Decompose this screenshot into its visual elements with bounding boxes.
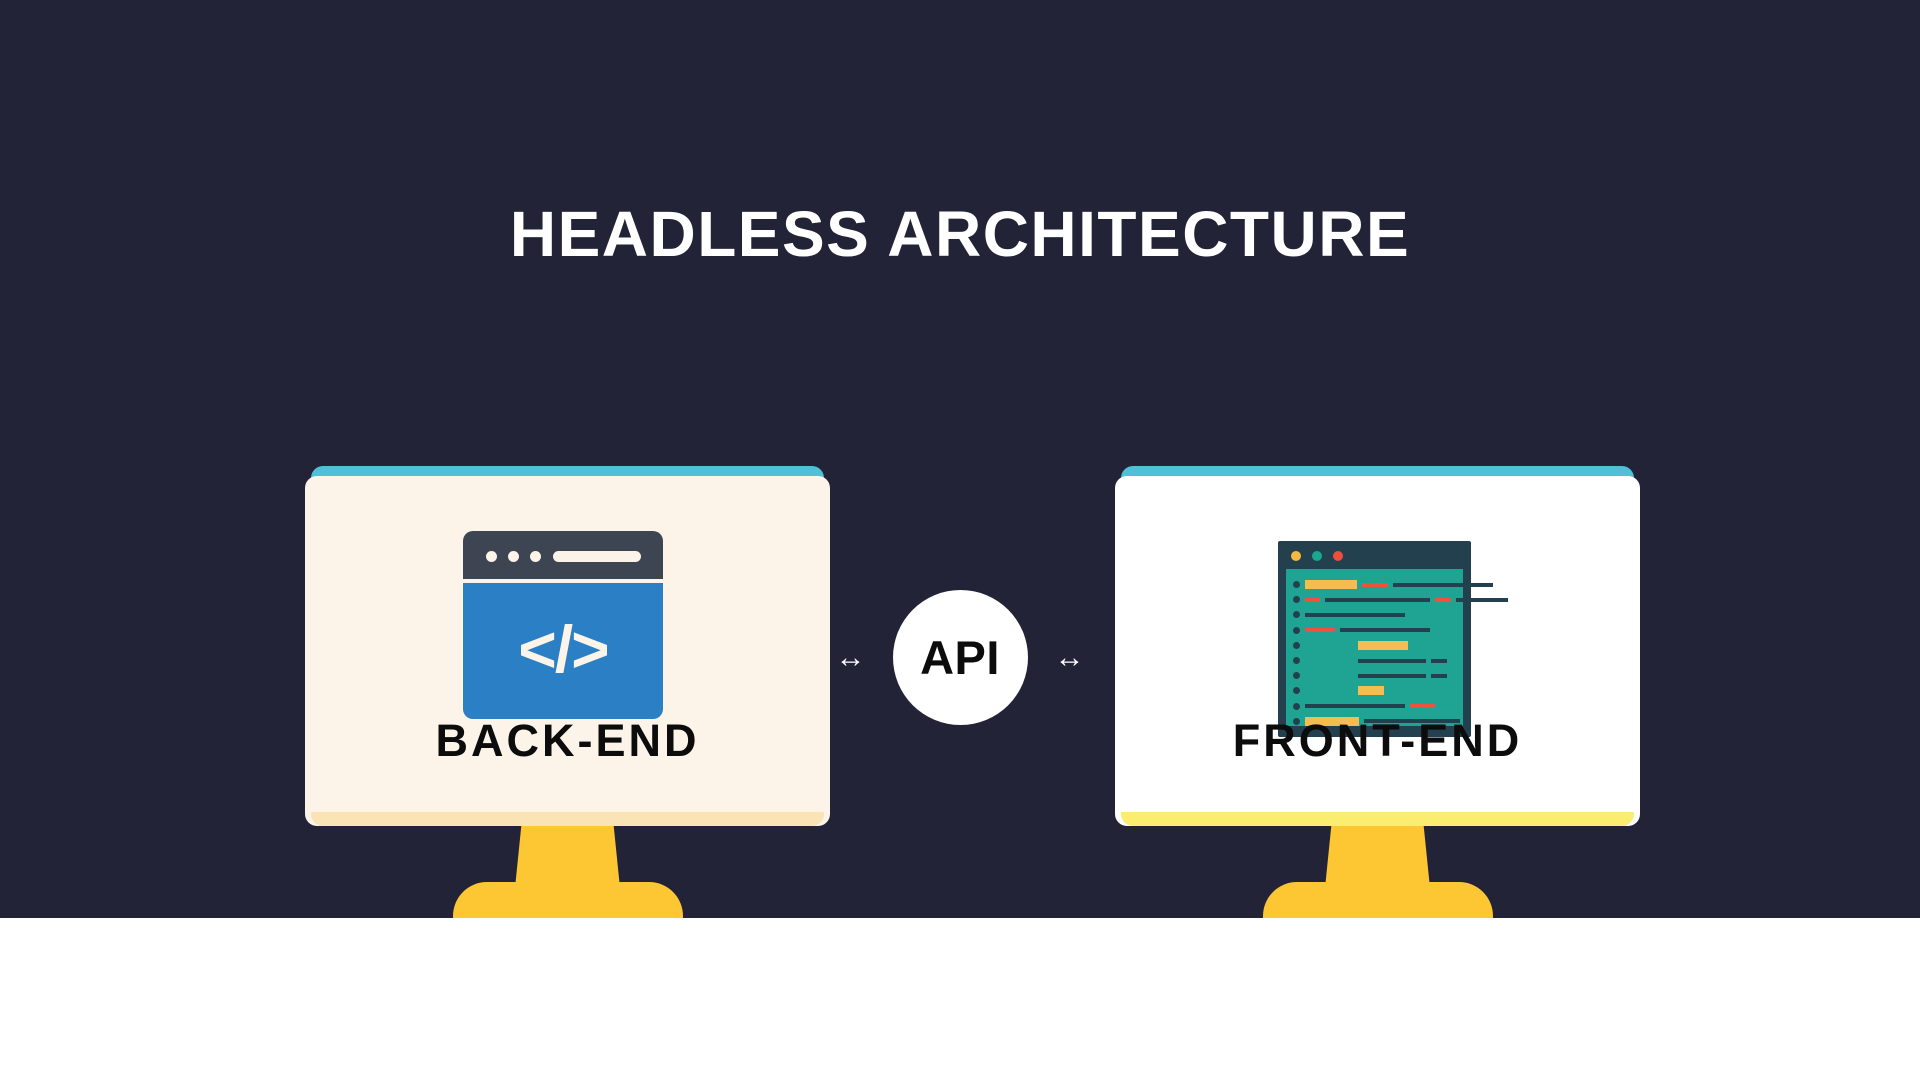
browser-titlebar (463, 531, 663, 579)
monitor-backend[interactable]: </> BACK-END (305, 466, 830, 826)
code-segment-dark (1358, 674, 1426, 678)
code-segment-dark (1358, 659, 1426, 663)
code-line (1286, 683, 1463, 698)
editor-traffic-light-yellow-icon (1291, 551, 1301, 561)
backend-label: BACK-END (305, 718, 830, 763)
code-segment-red (1362, 583, 1388, 587)
backend-stand-base (453, 882, 683, 918)
frontend-screen-bottom-edge (1121, 812, 1634, 826)
code-brackets-icon: </> (518, 616, 607, 682)
code-segment-dark (1305, 704, 1405, 708)
monitor-frontend[interactable]: FRONT-END (1115, 466, 1640, 826)
api-label: API (920, 634, 1000, 681)
editor-traffic-light-red-icon (1333, 551, 1343, 561)
bidirectional-arrow-left-icon: ↔ (828, 643, 873, 673)
code-line (1286, 699, 1463, 714)
frontend-label: FRONT-END (1115, 718, 1640, 763)
frontend-screen-face: FRONT-END (1115, 476, 1640, 826)
code-line (1286, 623, 1463, 638)
backend-stand-neck (515, 826, 620, 888)
frontend-stand-neck (1325, 826, 1430, 888)
code-line (1286, 577, 1463, 592)
editor-traffic-light-teal-icon (1312, 551, 1322, 561)
code-line (1286, 638, 1463, 653)
code-segment-dark (1305, 613, 1405, 617)
browser-dot-2-icon (508, 551, 519, 562)
code-line-bullet-icon (1293, 703, 1300, 710)
code-line-bullet-icon (1293, 642, 1300, 649)
code-line (1286, 592, 1463, 607)
backend-screen-face: </> BACK-END (305, 476, 830, 826)
code-segment-yellow (1358, 686, 1384, 695)
editor-code-area (1286, 569, 1463, 726)
browser-dot-3-icon (530, 551, 541, 562)
code-segment-yellow (1358, 641, 1408, 650)
backend-monitor-screen: </> BACK-END (305, 466, 830, 826)
code-line-bullet-icon (1293, 687, 1300, 694)
code-line-bullet-icon (1293, 611, 1300, 618)
code-segment-dark (1431, 674, 1447, 678)
code-line (1286, 607, 1463, 622)
api-circle[interactable]: API (893, 590, 1028, 725)
code-segment-dark (1393, 583, 1493, 587)
code-line-bullet-icon (1293, 581, 1300, 588)
frontend-stand-base (1263, 882, 1493, 918)
code-segment-dark (1431, 659, 1447, 663)
browser-dot-1-icon (486, 551, 497, 562)
code-segment-red (1305, 628, 1335, 632)
code-line-bullet-icon (1293, 657, 1300, 664)
backend-screen-bottom-edge (311, 812, 824, 826)
slide-canvas: HEADLESS ARCHITECTURE </> (0, 0, 1920, 1080)
code-line-bullet-icon (1293, 596, 1300, 603)
code-segment-dark (1456, 598, 1508, 602)
code-segment-yellow (1305, 580, 1357, 589)
code-segment-red (1410, 704, 1435, 708)
code-segment-red (1305, 598, 1320, 602)
browser-address-bar (553, 551, 641, 562)
code-line (1286, 668, 1463, 683)
code-segment-red (1435, 598, 1451, 602)
code-editor-icon (1278, 541, 1471, 737)
bidirectional-arrow-right-icon: ↔ (1047, 643, 1092, 673)
code-line (1286, 653, 1463, 668)
code-line-bullet-icon (1293, 627, 1300, 634)
browser-viewport: </> (463, 583, 663, 719)
frontend-monitor-screen: FRONT-END (1115, 466, 1640, 826)
hero-dark-band: HEADLESS ARCHITECTURE </> (0, 0, 1920, 918)
code-segment-dark (1340, 628, 1430, 632)
editor-titlebar (1278, 541, 1471, 569)
code-line-bullet-icon (1293, 672, 1300, 679)
code-segment-dark (1325, 598, 1430, 602)
page-title: HEADLESS ARCHITECTURE (0, 202, 1920, 266)
api-connector: ↔ API ↔ (828, 590, 1092, 725)
browser-window-code-icon: </> (463, 531, 663, 719)
